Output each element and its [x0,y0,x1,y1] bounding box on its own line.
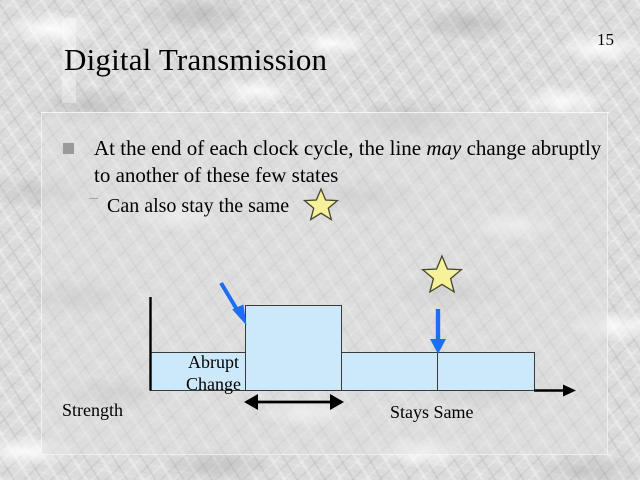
waveform-rect-cycle-2 [246,306,342,391]
clock-cycle-span-arrow [244,394,344,410]
abrupt-change-label-line-1: Abrupt [186,351,241,373]
waveform-rect-cycle-3 [342,353,438,391]
abrupt-change-arrow [221,283,247,326]
page-title: Digital Transmission [64,42,327,78]
abrupt-change-label: Abrupt Change [186,351,241,395]
slide: Digital Transmission 15 At the end of ea… [0,0,640,480]
stays-same-label: Stays Same [390,402,474,423]
page-number: 15 [597,30,614,50]
signal-diagram: Strength Abrupt Change Stays Same Clock … [0,113,640,455]
abrupt-change-label-line-2: Change [186,373,241,395]
waveform-rect-cycle-4 [438,353,535,391]
stays-same-star-icon [423,256,462,292]
y-axis-label: Strength [62,400,123,421]
x-axis-arrow [534,385,576,397]
stays-same-arrow [430,309,446,354]
